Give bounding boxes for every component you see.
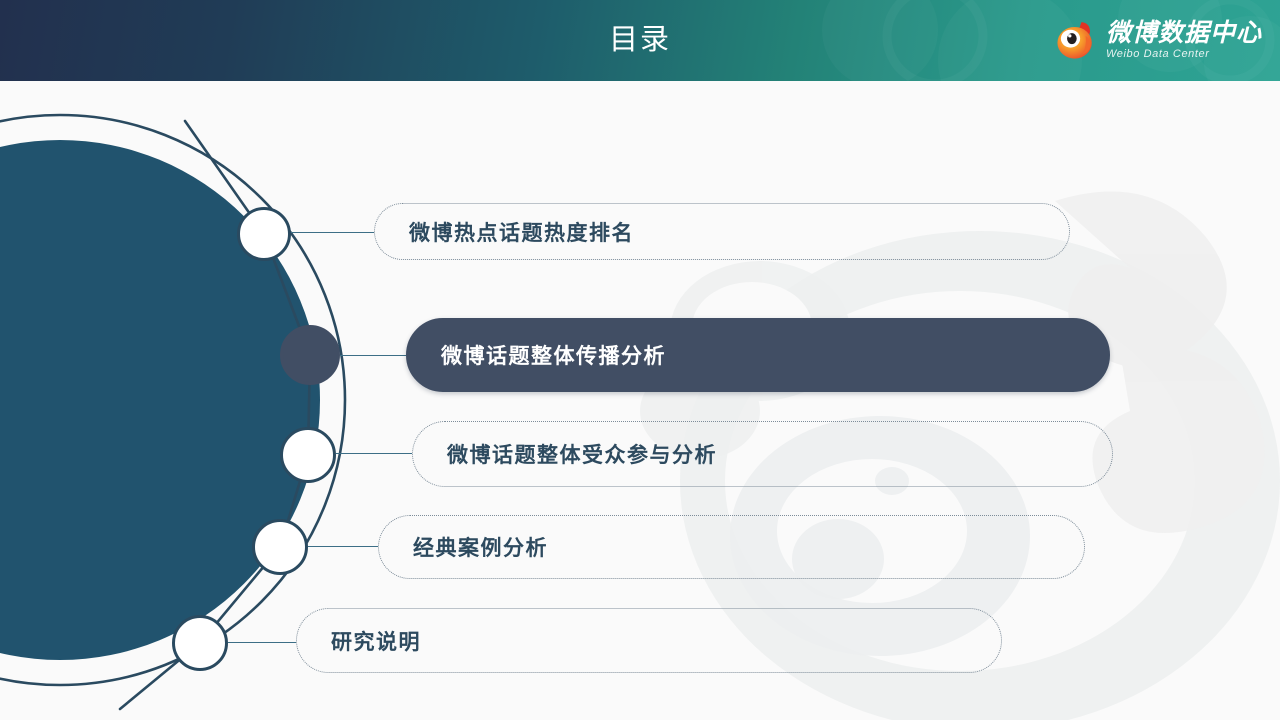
toc-item-3[interactable]: 微博话题整体受众参与分析 (412, 421, 1113, 487)
toc-item-label: 微博话题整体受众参与分析 (447, 439, 717, 469)
toc-node-5[interactable] (172, 615, 228, 671)
connector-line-5 (228, 642, 296, 643)
toc-item-2[interactable]: 微博话题整体传播分析 (406, 318, 1110, 392)
toc-node-1[interactable] (237, 207, 291, 261)
toc-node-2[interactable] (280, 325, 340, 385)
connector-line-2 (340, 355, 406, 356)
toc-item-label: 经典案例分析 (413, 532, 548, 562)
slide-root: 目录 微博数据中心 Weibo Data Cen (0, 0, 1280, 720)
connector-line-1 (291, 232, 374, 233)
toc-item-label: 微博话题整体传播分析 (441, 340, 666, 370)
toc-item-5[interactable]: 研究说明 (296, 608, 1002, 673)
connector-line-3 (336, 453, 412, 454)
toc-node-3[interactable] (280, 427, 336, 483)
toc-node-4[interactable] (252, 519, 308, 575)
toc-item-label: 微博热点话题热度排名 (409, 217, 634, 247)
toc-item-4[interactable]: 经典案例分析 (378, 515, 1085, 579)
connector-line-4 (308, 546, 378, 547)
toc-item-1[interactable]: 微博热点话题热度排名 (374, 203, 1070, 260)
toc-list: 微博热点话题热度排名微博话题整体传播分析微博话题整体受众参与分析经典案例分析研究… (0, 0, 1280, 720)
toc-item-label: 研究说明 (331, 626, 421, 656)
